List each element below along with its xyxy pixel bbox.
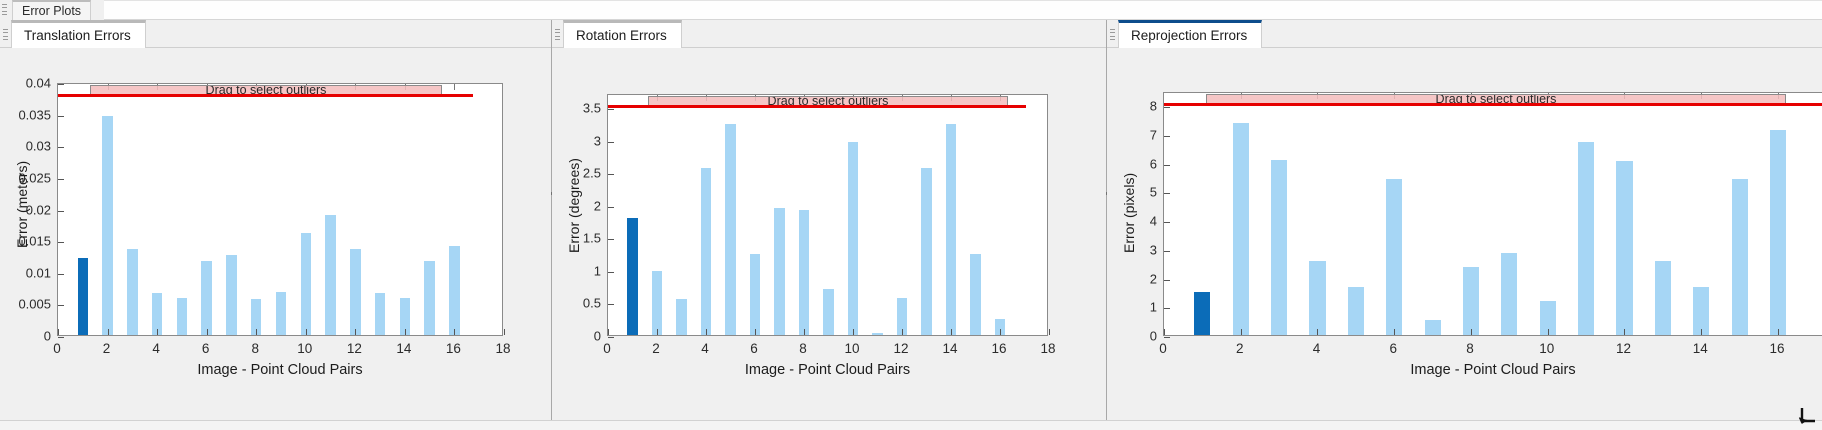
- chart-xtick-mark: [405, 329, 406, 335]
- chart-xtick-label: 12: [347, 341, 362, 356]
- chart-ylabel: Error (meters): [14, 161, 30, 248]
- status-bar: [0, 420, 1822, 430]
- chart-ytick-mark: [1164, 193, 1170, 194]
- chart-xtick-mark: [804, 329, 805, 335]
- chart-bar[interactable]: [1309, 261, 1325, 335]
- chart-xlabel: Image - Point Cloud Pairs: [197, 362, 362, 378]
- chart-xtick-mark: [951, 329, 952, 335]
- chart-ytick-label: 2: [594, 198, 601, 213]
- chart-ytick-mark: [58, 211, 64, 212]
- chart-bar[interactable]: [325, 215, 335, 335]
- chart-ytick-label: 1: [594, 263, 601, 278]
- chart-xtick-mark: [853, 329, 854, 335]
- chart-xtick-mark: [706, 329, 707, 335]
- chart-bar[interactable]: [676, 299, 686, 335]
- chart-xtick-label: 16: [991, 341, 1006, 356]
- panel-drag-gripper-icon-3[interactable]: [1110, 29, 1115, 40]
- chart-xtick-label: 14: [396, 341, 411, 356]
- chart-xtick-mark: [1394, 329, 1395, 335]
- chart-ytick-mark: [58, 84, 64, 85]
- chart-bar[interactable]: [970, 254, 980, 335]
- chart-xtick-label: 4: [152, 341, 160, 356]
- chart-ytick-label: 3: [1150, 242, 1157, 257]
- chart-bar[interactable]: [725, 124, 735, 335]
- chart-ytick-label: 0.03: [26, 139, 51, 154]
- chart-bar[interactable]: [750, 254, 760, 335]
- document-tab-label: Error Plots: [22, 4, 81, 18]
- chart-bar[interactable]: [848, 142, 858, 335]
- chart-bar[interactable]: [946, 124, 956, 335]
- tab-translation-errors[interactable]: Translation Errors: [11, 20, 146, 48]
- chart-ytick-label: 4: [1150, 214, 1157, 229]
- chart-ytick-mark: [1164, 308, 1170, 309]
- chart-ytick-mark: [1164, 136, 1170, 137]
- chart-xtick-mark: [657, 329, 658, 335]
- chart-ylabel: Error (pixels): [1121, 173, 1137, 253]
- chart-xtick-mark: [1241, 329, 1242, 335]
- chart-ytick-label: 1.5: [583, 231, 601, 246]
- chart-xtick-label: 14: [942, 341, 957, 356]
- chart-bar[interactable]: [1271, 160, 1287, 335]
- chart-bar[interactable]: [350, 249, 360, 335]
- chart-xtick-mark: [207, 329, 208, 335]
- chart-ytick-mark: [608, 239, 614, 240]
- chart-bar[interactable]: [1770, 130, 1786, 335]
- chart-bar[interactable]: [1386, 179, 1402, 335]
- tab-label: Translation Errors: [24, 28, 131, 43]
- chart-bar[interactable]: [375, 293, 385, 335]
- outlier-threshold-line[interactable]: [58, 94, 473, 97]
- chart-xtick-mark: [1701, 329, 1702, 335]
- chart-xtick-mark: [1548, 329, 1549, 335]
- document-tabbar: Error Plots: [0, 0, 1822, 20]
- chart-bar[interactable]: [1463, 267, 1479, 335]
- drag-gripper-icon[interactable]: [2, 4, 7, 15]
- chart-xtick-mark: [454, 329, 455, 335]
- chart-xtick-label: 16: [446, 341, 461, 356]
- document-tab-error-plots[interactable]: Error Plots: [12, 0, 91, 20]
- chart-xtick-mark: [1164, 329, 1165, 335]
- chart-bar[interactable]: [226, 255, 236, 335]
- chart-xtick-mark: [504, 329, 505, 335]
- chart-ytick-label: 7: [1150, 128, 1157, 143]
- chart-ytick-mark: [608, 109, 614, 110]
- plot-pane-reprojection-errors: Drag to select outliers01234567802468101…: [1107, 48, 1822, 430]
- chart-ytick-label: 0: [594, 329, 601, 344]
- chart-xtick-mark: [1471, 329, 1472, 335]
- chart-ytick-mark: [608, 207, 614, 208]
- chart-ytick-mark: [58, 242, 64, 243]
- chart-xtick-label: 8: [251, 341, 259, 356]
- chart-xtick-label: 2: [1236, 341, 1244, 356]
- chart-xtick-label: 0: [1159, 341, 1167, 356]
- chart-bar[interactable]: [1616, 161, 1632, 335]
- resize-handle-icon[interactable]: [1798, 404, 1820, 428]
- chart-bar[interactable]: [1501, 253, 1517, 335]
- chart-xtick-label: 2: [103, 341, 111, 356]
- chart-bar[interactable]: [1732, 179, 1748, 335]
- chart-xtick-label: 6: [1389, 341, 1397, 356]
- chart-ytick-mark: [1164, 107, 1170, 108]
- chart-ytick-mark: [1164, 251, 1170, 252]
- chart-ylabel: Error (degrees): [566, 158, 582, 253]
- outlier-threshold-line[interactable]: [608, 105, 1026, 108]
- chart-xtick-label: 0: [53, 341, 61, 356]
- chart-xtick-mark: [108, 329, 109, 335]
- chart-ytick-mark: [1164, 165, 1170, 166]
- chart-xtick-label: 18: [495, 341, 510, 356]
- chart-ytick-mark: [1164, 222, 1170, 223]
- chart-bar[interactable]: [1693, 287, 1709, 336]
- chart-ytick-label: 1: [1150, 300, 1157, 315]
- chart-xtick-label: 6: [202, 341, 210, 356]
- chart-ytick-label: 3.5: [583, 101, 601, 116]
- chart-xtick-label: 10: [297, 341, 312, 356]
- chart-plot-area: Drag to select outliers: [1164, 93, 1822, 335]
- chart-bar[interactable]: [701, 168, 711, 335]
- chart-bar[interactable]: [1425, 320, 1441, 336]
- chart-bar[interactable]: [799, 210, 809, 335]
- chart-xtick-label: 0: [603, 341, 611, 356]
- chart-axes: Drag to select outliers: [607, 94, 1048, 336]
- chart-ytick-label: 6: [1150, 156, 1157, 171]
- chart-bar[interactable]: [1233, 123, 1249, 335]
- tab-rotation-errors[interactable]: Rotation Errors: [563, 20, 682, 48]
- chart-xtick-mark: [157, 329, 158, 335]
- chart-bar[interactable]: [872, 333, 882, 335]
- chart-ytick-mark: [1164, 280, 1170, 281]
- chart-ytick-mark: [58, 337, 64, 338]
- chart-xtick-mark: [608, 329, 609, 335]
- chart-bar[interactable]: [921, 168, 931, 335]
- chart-ytick-label: 0.035: [18, 107, 51, 122]
- chart-bar[interactable]: [1655, 261, 1671, 335]
- chart-xtick-mark: [58, 329, 59, 335]
- chart-xtick-mark: [1000, 329, 1001, 335]
- chart-xtick-mark: [902, 329, 903, 335]
- chart-xtick-mark: [256, 329, 257, 335]
- chart-bar[interactable]: [78, 258, 88, 335]
- chart-ytick-mark: [608, 272, 614, 273]
- chart-bar[interactable]: [449, 246, 459, 335]
- chart-xtick-mark: [1778, 329, 1779, 335]
- chart-ytick-label: 0: [1150, 329, 1157, 344]
- chart-xtick-label: 12: [1616, 341, 1631, 356]
- plot-pane-rotation-errors: Drag to select outliers00.511.522.533.50…: [552, 48, 1106, 430]
- chart-bar[interactable]: [276, 292, 286, 335]
- chart-bar[interactable]: [127, 249, 137, 335]
- chart-ytick-mark: [1164, 337, 1170, 338]
- chart-bar[interactable]: [1578, 142, 1594, 335]
- panel-drag-gripper-icon-1[interactable]: [3, 29, 8, 40]
- chart-xlabel: Image - Point Cloud Pairs: [745, 362, 910, 378]
- chart-xlabel: Image - Point Cloud Pairs: [1410, 362, 1575, 378]
- chart-xtick-label: 4: [1313, 341, 1321, 356]
- tab-label: Rotation Errors: [576, 28, 667, 43]
- chart-bar[interactable]: [652, 271, 662, 335]
- chart-xtick-mark: [306, 329, 307, 335]
- chart-plot-area: Drag to select outliers: [608, 95, 1047, 335]
- document-tabbar-filler: [104, 0, 1822, 20]
- chart-bar[interactable]: [102, 116, 112, 335]
- chart-bar[interactable]: [1348, 287, 1364, 336]
- chart-xtick-label: 18: [1040, 341, 1055, 356]
- chart-bar[interactable]: [301, 233, 311, 335]
- chart-ytick-label: 3: [594, 133, 601, 148]
- chart-xtick-mark: [1049, 329, 1050, 335]
- tab-reprojection-errors[interactable]: Reprojection Errors: [1118, 20, 1262, 48]
- chart-xtick-mark: [1624, 329, 1625, 335]
- chart-ytick-mark: [58, 116, 64, 117]
- panel-drag-gripper-icon-2[interactable]: [555, 29, 560, 40]
- chart-xtick-mark: [1317, 329, 1318, 335]
- chart-xtick-label: 8: [1466, 341, 1474, 356]
- chart-axes: Drag to select outliers: [1163, 92, 1822, 336]
- chart-ytick-label: 5: [1150, 185, 1157, 200]
- chart-ytick-label: 0.04: [26, 76, 51, 91]
- chart-plot-area: Drag to select outliers: [58, 84, 502, 335]
- chart-ytick-label: 2: [1150, 271, 1157, 286]
- chart-ytick-mark: [608, 142, 614, 143]
- chart-bar[interactable]: [627, 218, 637, 335]
- chart-ytick-label: 0: [44, 329, 51, 344]
- chart-ytick-mark: [608, 304, 614, 305]
- chart-xtick-label: 6: [750, 341, 758, 356]
- chart-xtick-label: 8: [799, 341, 807, 356]
- chart-xtick-label: 10: [844, 341, 859, 356]
- chart-ytick-label: 8: [1150, 99, 1157, 114]
- chart-ytick-label: 0.005: [18, 297, 51, 312]
- chart-bar[interactable]: [1194, 292, 1210, 335]
- chart-ytick-mark: [608, 174, 614, 175]
- chart-axes: Drag to select outliers: [57, 83, 503, 336]
- chart-bar[interactable]: [424, 261, 434, 335]
- chart-xtick-label: 2: [652, 341, 660, 356]
- chart-xtick-label: 12: [893, 341, 908, 356]
- chart-xtick-label: 10: [1539, 341, 1554, 356]
- tab-label: Reprojection Errors: [1131, 28, 1247, 43]
- plot-pane-translation-errors: Drag to select outliers00.0050.010.0150.…: [0, 48, 551, 430]
- chart-ytick-mark: [58, 274, 64, 275]
- chart-bar[interactable]: [177, 298, 187, 335]
- chart-xtick-mark: [355, 329, 356, 335]
- chart-ytick-mark: [58, 179, 64, 180]
- chart-ytick-label: 0.01: [26, 265, 51, 280]
- chart-ytick-label: 2.5: [583, 166, 601, 181]
- chart-xtick-mark-top: [454, 84, 455, 90]
- chart-xtick-label: 4: [701, 341, 709, 356]
- chart-xtick-label: 16: [1769, 341, 1784, 356]
- outlier-threshold-line[interactable]: [1164, 103, 1822, 106]
- chart-ytick-mark: [608, 337, 614, 338]
- panel-tabrow: Translation Errors Rotation Errors Repro…: [0, 20, 1822, 48]
- chart-ytick-mark: [58, 147, 64, 148]
- chart-ytick-label: 0.5: [583, 296, 601, 311]
- chart-bar[interactable]: [823, 289, 833, 335]
- chart-xtick-mark: [755, 329, 756, 335]
- chart-bar[interactable]: [774, 208, 784, 335]
- chart-bar[interactable]: [201, 261, 211, 335]
- chart-xtick-label: 14: [1693, 341, 1708, 356]
- chart-ytick-mark: [58, 305, 64, 306]
